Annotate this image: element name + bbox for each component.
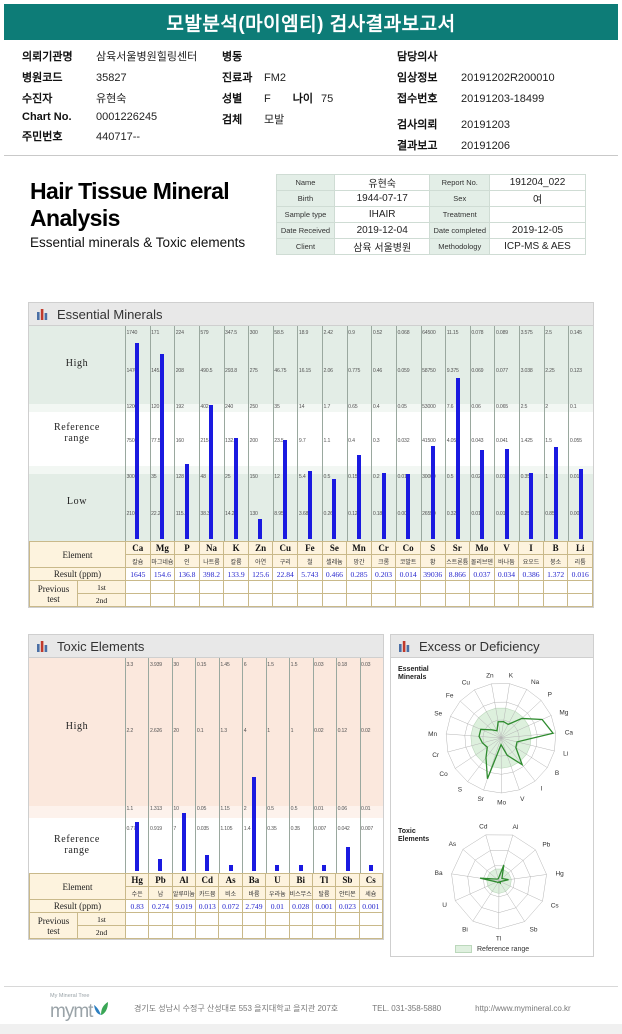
chart-bar [135,343,139,539]
chart-scale-value: 130 [250,511,258,517]
chart-gridline [347,326,348,541]
previous-line2: test [47,926,60,936]
radar-axis-label: Mo [497,799,506,806]
chart-scale-value: 64500 [422,330,435,336]
chart-scale-value: 1.313 [150,806,162,812]
chart-scale-value: 0.1 [570,404,577,410]
element-name-kr: 몰리브덴 [470,555,495,568]
previous-test-cell [298,581,323,594]
radar-axis-label: Mn [428,731,437,738]
chart-scale-value: 160 [176,438,184,444]
result-value: 125.6 [248,568,273,581]
radar-axis-label: Li [563,751,568,758]
chart-scale-value: 48 [200,474,205,480]
leaf-icon [94,1000,109,1018]
chart-gridline [396,326,397,541]
element-name-kr: 알루미늄 [172,887,195,900]
essential-minerals-header: Essential Minerals [28,302,594,325]
chart-scale-value: 4 [244,728,247,734]
chart-bar [185,464,189,539]
chart-scale-value: 41500 [422,438,435,444]
chart-gridline [224,326,225,541]
element-name-kr: 비소 [219,887,242,900]
element-name-kr: 아연 [248,555,273,568]
element-symbol: Sr [445,542,470,555]
chart-gridline [248,326,249,541]
chart-zone-label: High [29,721,125,732]
result-row-label: Result (ppm) [30,568,126,581]
specimen-info-key: Birth [277,190,335,206]
patient-field: Chart No. 0001226245 [22,111,222,123]
element-name-kr: 붕소 [543,555,568,568]
chart-bar [456,378,460,539]
radar-axis-label: Al [513,824,519,831]
field-value: 20191206 [461,140,510,152]
chart-gridline [421,326,422,541]
previous-test-cell [224,594,249,607]
patient-field: 검체 모발 [222,111,397,127]
chart-scale-value: 300 [250,330,258,336]
element-name-kr: 바륨 [242,887,265,900]
previous-test-cell [126,913,149,926]
chart-scale-value: 5.4 [299,474,306,480]
result-value: 0.466 [322,568,347,581]
element-symbol: As [219,874,242,887]
previous-test-1st: 1st [78,913,126,926]
radar-axis-label: Fe [446,693,454,700]
chart-scale-value: 224 [176,330,184,336]
field-value: 440717-- [96,131,140,143]
chart-scale-value: 0.032 [397,438,409,444]
toxic-elements-chart: HighReferencerange3.33.939300.151.4561.5… [29,658,383,873]
chart-scale-value: 35 [151,474,156,480]
element-symbol: Cs [359,874,382,887]
chart-bar [505,449,509,539]
chart-scale-value: 0.2 [373,474,380,480]
previous-test-cell [242,913,265,926]
field-label: 수진자 [22,90,88,106]
field-label: 병원코드 [22,69,88,85]
bar-chart-icon [37,308,50,320]
chart-scale-value: 0.9 [348,330,355,336]
result-value: 0.034 [494,568,519,581]
chart-bar [579,469,583,539]
chart-scale-value: 0.077 [496,368,508,374]
element-symbol: Cr [371,542,396,555]
chart-bar [229,865,233,871]
previous-test-label: Previoustest [30,581,78,607]
previous-test-cell [519,581,544,594]
previous-test-cell [470,581,495,594]
previous-test-cell [150,581,175,594]
previous-test-cell [196,913,219,926]
chart-zone-band [29,404,593,412]
radar-axis-label: Cu [462,679,471,686]
chart-gridline [266,658,267,873]
chart-gridline [273,326,274,541]
specimen-info-table: Name유현숙Report No.191204_022Birth1944-07-… [276,174,586,255]
previous-test-cell [199,581,224,594]
chart-scale-value: 1.3 [220,728,227,734]
chart-scale-value: 0.06 [471,404,480,410]
patient-col-1: 의뢰기관명 삼육서울병원힐링센터 병원코드 35827 수진자 유현숙 Char… [4,48,222,149]
table-row: Result (ppm)1645154.6136.8398.2133.9125.… [30,568,593,581]
chart-bar [283,440,287,539]
previous-test-cell [172,913,195,926]
patient-field: 병동 [222,48,397,64]
chart-scale-value: 10 [173,806,178,812]
radar-axis-label: Sr [478,796,485,803]
element-name-kr: 인 [175,555,200,568]
field-value: 20191202R200010 [461,72,555,84]
element-name-kr: 망간 [347,555,372,568]
chart-gridline [568,326,569,541]
excess-deficiency-body: Essential Minerals ZnKNaPMgCaLiBIVMoSrSC… [390,657,594,957]
legend-label: Reference range [477,946,529,953]
chart-bar [158,859,162,871]
radar-axis-label: Ba [435,870,443,877]
radar-axis-label: Mg [559,709,568,716]
htma-title: Hair Tissue Mineral Analysis [30,178,276,232]
specimen-info-row: Date Received2019-12-04Date completed201… [277,222,586,238]
chart-scale-value: 2.25 [545,368,554,374]
chart-gridline [470,326,471,541]
essential-minerals-title: Essential Minerals [57,307,163,322]
chart-bar [182,813,186,871]
chart-gridline [289,658,290,873]
chart-scale-value: 3.575 [521,330,533,336]
result-value: 0.072 [219,900,242,913]
patient-field: 의뢰기관명 삼육서울병원힐링센터 [22,48,222,64]
chart-scale-value: 2.06 [324,368,333,374]
field-label: 주민번호 [22,128,88,144]
element-symbol: Se [322,542,347,555]
chart-scale-value: 1.1 [324,438,331,444]
element-name-kr: 세슘 [359,887,382,900]
chart-scale-value: 0.042 [338,826,350,832]
chart-gridline [322,326,323,541]
element-name-kr: 크롬 [371,555,396,568]
chart-scale-value: 1.4 [244,826,251,832]
result-value: 136.8 [175,568,200,581]
result-value: 5.743 [298,568,323,581]
element-symbol: Pb [149,874,172,887]
chart-scale-value: 150 [250,474,258,480]
field-label: 병동 [222,48,256,64]
chart-scale-value: 171 [151,330,159,336]
chart-scale-value: 0.775 [348,368,360,374]
chart-scale-value: 58750 [422,368,435,374]
previous-line1: Previous [38,584,70,594]
chart-gridline [150,326,151,541]
bar-chart-icon [399,640,412,652]
toxic-radar-chart: CdAlPbHgCsSbTlBiUBaAs [391,821,595,946]
element-symbol: Al [172,874,195,887]
essential-radar-chart: ZnKNaPMgCaLiBIVMoSrSCoCrMnSeFeCu [391,658,595,818]
field-label: 의뢰기관명 [22,48,88,64]
chart-scale-value: 0.5 [291,806,298,812]
previous-test-cell [371,594,396,607]
chart-scale-value: 0.4 [348,438,355,444]
element-symbol: Hg [126,874,149,887]
chart-scale-value: 0.5 [324,474,331,480]
chart-scale-value: 208 [176,368,184,374]
element-symbol: Sb [336,874,359,887]
chart-gridline [313,658,314,873]
specimen-info-value: 2019-12-05 [490,222,586,238]
brand-logo: My Mineral Tree mymt [4,994,134,1023]
element-name-kr: 납 [149,887,172,900]
result-value: 398.2 [199,568,224,581]
chart-zone-band [29,658,383,806]
chart-scale-value: 2 [244,806,247,812]
radar-axis-label: Hg [555,871,564,878]
chart-scale-value: 490.5 [200,368,212,374]
chart-scale-value: 7.6 [447,404,454,410]
previous-test-cell [347,594,372,607]
chart-scale-value: 30 [173,662,178,668]
chart-scale-value: 1.1 [127,806,134,812]
patient-info-block: 의뢰기관명 삼육서울병원힐링센터 병원코드 35827 수진자 유현숙 Char… [4,40,618,156]
chart-gridline [297,326,298,541]
chart-scale-value: 9.375 [447,368,459,374]
result-value: 39036 [420,568,445,581]
previous-test-cell [289,926,312,939]
htma-title-block: Hair Tissue Mineral Analysis Essential m… [4,178,276,250]
radar-axis-label: Tl [496,935,502,942]
chart-scale-value: 1.7 [324,404,331,410]
chart-scale-value: 35 [274,404,279,410]
chart-bar [275,865,279,871]
previous-test-cell [336,913,359,926]
element-symbol: Li [568,542,593,555]
specimen-info-value: ICP-MS & AES [490,238,586,254]
chart-scale-value: 1740 [127,330,138,336]
table-row: 2nd [30,594,593,607]
element-header-label: Element [30,542,126,568]
specimen-info-row: Birth1944-07-17Sex여 [277,190,586,206]
field-value: F [264,93,271,105]
previous-test-cell [322,581,347,594]
chart-gridline [195,658,196,873]
chart-scale-value: 0.52 [373,330,382,336]
element-symbol: Co [396,542,421,555]
specimen-info-value: 삼육 서울병원 [334,238,430,254]
chart-scale-value: 0.12 [338,728,347,734]
previous-test-cell [126,594,151,607]
chart-scale-value: 1.45 [220,662,229,668]
chart-scale-value: 0.059 [397,368,409,374]
element-name-kr: 구리 [273,555,298,568]
previous-test-cell [347,581,372,594]
element-symbol: Mn [347,542,372,555]
field-value: 모발 [264,111,284,127]
chart-scale-value: 2.5 [521,404,528,410]
chart-scale-value: 0.078 [471,330,483,336]
result-value: 1645 [126,568,151,581]
result-value: 0.01 [266,900,289,913]
chart-scale-value: 11.15 [447,330,459,336]
element-name-kr: 칼슘 [126,555,151,568]
result-row-label: Result (ppm) [30,900,126,913]
element-symbol: Mg [150,542,175,555]
chart-bar [135,822,139,871]
chart-zone-label: Low [29,496,125,507]
chart-scale-value: 14 [299,404,304,410]
previous-line1: Previous [38,916,70,926]
htma-header: Hair Tissue Mineral Analysis Essential m… [4,166,618,262]
chart-gridline [371,326,372,541]
chart-zone-label: Referencerange [29,834,125,856]
patient-field: 주민번호 440717-- [22,128,222,144]
element-header-label: Element [30,874,126,900]
patient-field: 병원코드 35827 [22,69,222,85]
chart-bar [382,473,386,539]
result-value: 0.285 [347,568,372,581]
specimen-info-key: Date Received [277,222,335,238]
previous-test-cell [322,594,347,607]
chart-bar [480,450,484,539]
specimen-info-key: Name [277,174,335,190]
footer-url[interactable]: http://www.mymineral.co.kr [475,1004,571,1013]
specimen-info-row: Name유현숙Report No.191204_022 [277,174,586,190]
field-value: FM2 [264,72,286,84]
toxic-elements-table: ElementHgPbAlCdAsBaUBiTlSbCs수은납알루미늄카드뮴비소… [29,873,383,939]
chart-scale-value: 58.5 [274,330,283,336]
result-value: 0.203 [371,568,396,581]
previous-test-cell [175,581,200,594]
chart-scale-value: 0.069 [471,368,483,374]
specimen-info-value: 2019-12-04 [334,222,430,238]
chart-bar [529,473,533,539]
chart-gridline [125,326,126,541]
specimen-info-value: IHAIR [334,206,430,222]
chart-bar [308,471,312,539]
element-name-kr: 철 [298,555,323,568]
chart-scale-value: 12 [274,474,279,480]
patient-field: 접수번호 20191203-18499 [397,90,597,106]
patient-field-sex-age: 성별 F 나이 75 [222,90,397,106]
field-label: 결과보고 [397,137,453,153]
chart-bar [406,474,410,539]
result-value: 0.001 [312,900,335,913]
element-name-kr: 안티몬 [336,887,359,900]
chart-scale-value: 402 [200,404,208,410]
chart-scale-value: 9.7 [299,438,306,444]
radar-axis-label: V [520,796,525,803]
table-row: Previoustest1st [30,913,383,926]
chart-scale-value: 46.75 [274,368,286,374]
chart-bar [252,777,256,871]
element-name-kr: 스트론튬 [445,555,470,568]
chart-scale-value: 128 [176,474,184,480]
chart-gridline [148,658,149,873]
element-symbol: V [494,542,519,555]
chart-scale-value: 0.35 [267,826,276,832]
bar-chart-icon [37,640,50,652]
result-value: 0.001 [359,900,382,913]
chart-scale-value: 0.055 [570,438,582,444]
toxic-elements-body: HighReferencerange3.33.939300.151.4561.5… [28,657,384,940]
specimen-info-value: 여 [490,190,586,206]
radar-axis-label: Cd [479,824,488,831]
table-row: ElementCaMgPNaKZnCuFeSeMnCrCoSSrMoVIBLi [30,542,593,555]
chart-scale-value: 2.2 [127,728,134,734]
patient-field: 검사의뢰 20191203 [397,116,597,132]
field-label: 임상정보 [397,69,453,85]
previous-test-cell [126,926,149,939]
previous-test-cell [273,581,298,594]
field-value: 삼육서울병원힐링센터 [96,48,197,64]
patient-col-2: 병동 진료과 FM2 성별 F 나이 75 검체 모발 [222,48,397,149]
radar-axis-label: Pb [542,841,550,848]
chart-gridline [494,326,495,541]
element-symbol: Bi [289,874,312,887]
chart-scale-value: 347.5 [225,330,237,336]
essential-minerals-panel: Essential Minerals HighReferencerangeLow… [28,302,594,608]
patient-field: 담당의사 [397,48,597,64]
previous-test-cell [219,926,242,939]
chart-gridline [336,658,337,873]
chart-scale-value: 0.007 [361,826,373,832]
element-symbol: K [224,542,249,555]
element-symbol: Fe [298,542,323,555]
toxic-elements-header: Toxic Elements [28,634,384,657]
chart-scale-value: 1.15 [220,806,229,812]
field-value: 0001226245 [96,111,157,123]
chart-scale-value: 0.05 [397,404,406,410]
element-name-kr: 탈륨 [312,887,335,900]
element-name-kr: 황 [420,555,445,568]
element-name-kr: 비스무스 [289,887,312,900]
result-value: 0.83 [126,900,149,913]
chart-scale-value: 0.02 [314,728,323,734]
essential-minerals-table: ElementCaMgPNaKZnCuFeSeMnCrCoSSrMoVIBLi칼… [29,541,593,607]
previous-test-cell [420,581,445,594]
chart-scale-value: 0.1 [197,728,204,734]
specimen-info-key: Methodology [430,238,490,254]
chart-scale-value: 0.35 [291,826,300,832]
element-name-kr: 셀레늄 [322,555,347,568]
previous-test-cell [543,581,568,594]
chart-bar [205,855,209,871]
chart-scale-value: 0.06 [338,806,347,812]
field-value: 20191203-18499 [461,93,544,105]
chart-bar [160,354,164,539]
radar-axis-label: K [509,672,514,679]
chart-scale-value: 293.8 [225,368,237,374]
radar-axis-label: U [442,902,447,909]
specimen-info-key: Report No. [430,174,490,190]
result-value: 0.016 [568,568,593,581]
chart-scale-value: 0.123 [570,368,582,374]
element-name-kr: 마그네슘 [150,555,175,568]
report-title: 모발분석(마이엠티) 검사결과보고서 [166,9,455,36]
result-value: 0.037 [470,568,495,581]
radar-axis-label: Co [439,771,448,778]
table-row: Result (ppm)0.830.2749.0190.0130.0722.74… [30,900,383,913]
chart-scale-value: 0.5 [267,806,274,812]
chart-bar [554,447,558,539]
excess-deficiency-panel: Excess or Deficiency Essential Minerals … [390,634,594,957]
radar-axis-label: S [458,786,463,793]
result-value: 0.028 [289,900,312,913]
element-name-kr: 요오드 [519,555,544,568]
radar-legend: Reference range [455,945,529,953]
element-symbol: Mo [470,542,495,555]
chart-scale-value: 1.105 [220,826,232,832]
result-value: 0.013 [196,900,219,913]
